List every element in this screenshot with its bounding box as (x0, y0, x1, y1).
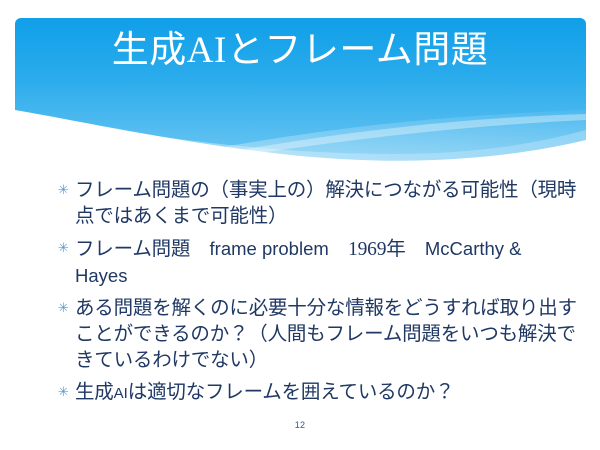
asterisk-bullet-icon: ✳ (58, 296, 75, 322)
bullet-list: ✳ フレーム問題の（事実上の）解決につながる可能性（現時点ではあくまで可能性） … (58, 178, 578, 413)
asterisk-bullet-icon: ✳ (58, 236, 75, 262)
bullet-2-latin-term: frame problem (210, 238, 329, 259)
bullet-text-3: ある問題を解くのに必要十分な情報をどうすれば取り出すことができるのか？（人間もフ… (75, 296, 578, 374)
page-title: 生成AIとフレーム問題 (0, 30, 600, 73)
slide: 生成AIとフレーム問題 ✳ フレーム問題の（事実上の）解決につながる可能性（現時… (0, 0, 600, 450)
asterisk-bullet-icon: ✳ (58, 178, 75, 204)
bullet-text-2: フレーム問題 frame problem 1969年 McCarthy & Ha… (75, 236, 578, 290)
list-item: ✳ 生成AIは適切なフレームを囲えているのか？ (58, 380, 578, 407)
list-item: ✳ ある問題を解くのに必要十分な情報をどうすれば取り出すことができるのか？（人間… (58, 296, 578, 374)
bullet-4-latin-term: AI (114, 385, 128, 402)
list-item: ✳ フレーム問題 frame problem 1969年 McCarthy & … (58, 236, 578, 290)
asterisk-bullet-icon: ✳ (58, 380, 75, 406)
bullet-2-year: 1969年 (329, 239, 425, 260)
bullet-2-lead: フレーム問題 (75, 239, 210, 260)
bullet-text-1: フレーム問題の（事実上の）解決につながる可能性（現時点ではあくまで可能性） (75, 178, 578, 230)
list-item: ✳ フレーム問題の（事実上の）解決につながる可能性（現時点ではあくまで可能性） (58, 178, 578, 230)
bullet-text-4: 生成AIは適切なフレームを囲えているのか？ (75, 380, 578, 407)
page-number: 12 (0, 420, 600, 430)
bullet-4-lead: 生成 (75, 382, 114, 403)
bullet-4-tail: は適切なフレームを囲えているのか？ (128, 382, 455, 403)
